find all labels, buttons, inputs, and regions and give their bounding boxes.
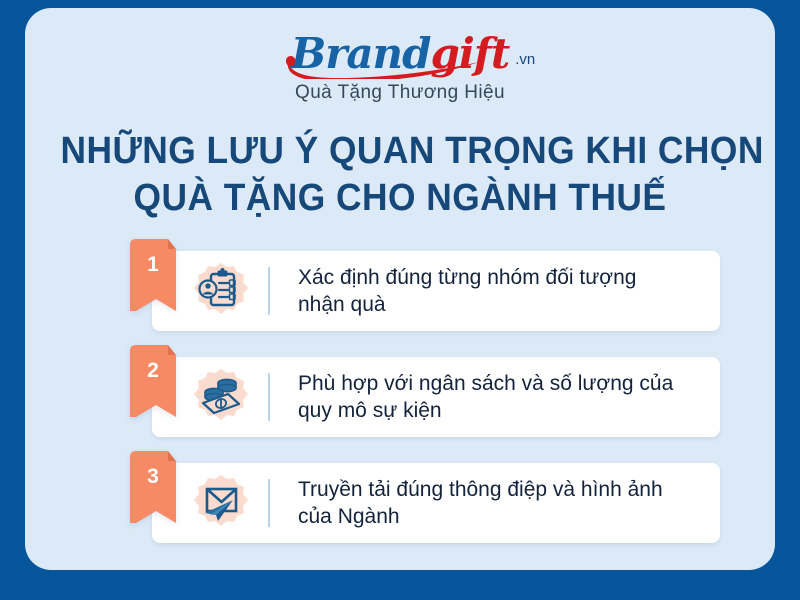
item-text: Truyền tải đúng thông điệp và hình ảnh c… [298, 476, 688, 530]
brand-logo[interactable]: Brandgift .vn Quà Tặng Thương Hiệu [25, 28, 775, 104]
logo-gift-text: gift [430, 29, 509, 78]
logo-tagline: Quà Tặng Thương Hiệu [25, 82, 775, 104]
list-item[interactable]: 1 Xác định đúng từng nhóm đối tượng nhận… [130, 251, 720, 331]
logo-brand-text: Brand [291, 29, 431, 78]
card-divider [268, 479, 270, 527]
card-divider [268, 267, 270, 315]
ribbon-bookmark-icon [130, 345, 176, 430]
ribbon-bookmark-icon [130, 239, 176, 324]
list-item[interactable]: 3 Truyền tải đúng thông điệp và hình ảnh… [130, 463, 720, 543]
page-title: NHỮNG LƯU Ý QUAN TRỌNG KHI CHỌN QUÀ TẶNG… [61, 128, 740, 222]
logo-tld-text: .vn [515, 34, 535, 86]
ribbon-bookmark-icon [130, 451, 176, 536]
item-text: Xác định đúng từng nhóm đối tượng nhận q… [298, 264, 688, 318]
tips-list: 1 Xác định đúng từng nhóm đối tượng nhận… [130, 251, 720, 569]
card-divider [268, 373, 270, 421]
money-coins-banknote-icon [192, 368, 250, 426]
infographic-canvas: { "colors": { "outer_border": "#05559A",… [0, 0, 800, 600]
item-text: Phù hợp với ngân sách và số lượng của qu… [298, 370, 688, 424]
content-panel: Brandgift .vn Quà Tặng Thương Hiệu NHỮNG… [25, 8, 775, 570]
envelope-paper-plane-icon [192, 474, 250, 532]
headline-line-2: QUÀ TẶNG CHO NGÀNH THUẾ [61, 175, 740, 222]
logo-wordmark: Brandgift .vn [291, 28, 510, 80]
list-item[interactable]: 2 Phù hợp với ngân sách và số lượng của … [130, 357, 720, 437]
clipboard-checklist-person-icon [192, 262, 250, 320]
headline-line-1: NHỮNG LƯU Ý QUAN TRỌNG KHI CHỌN [61, 128, 740, 175]
